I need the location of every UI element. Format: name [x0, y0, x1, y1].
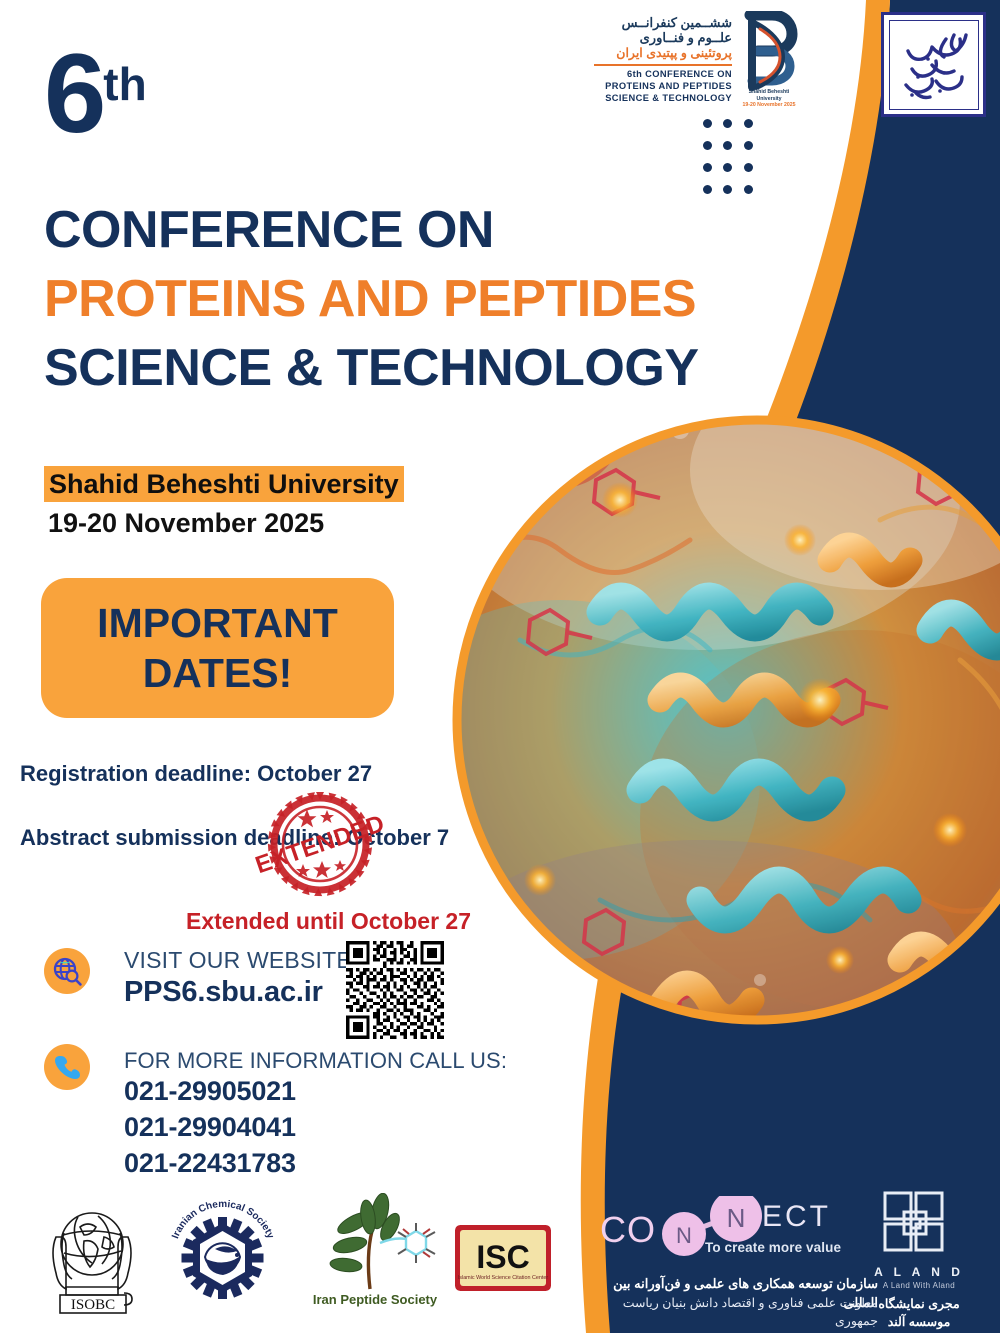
- qr-code[interactable]: [346, 941, 444, 1039]
- university-logo-calligraphy: [894, 25, 974, 105]
- phone-number-1[interactable]: 021-29905021: [124, 1074, 507, 1110]
- important-dates-badge: IMPORTANT DATES!: [41, 578, 394, 718]
- page-title: CONFERENCE ON PROTEINS AND PEPTIDES SCIE…: [44, 196, 724, 403]
- website-text: VISIT OUR WEBSITE: PPS6.sbu.ac.ir: [124, 947, 359, 1009]
- aland-persian-line2: موسسه آلند: [855, 1314, 983, 1332]
- title-line-2: PROTEINS AND PEPTIDES: [44, 265, 724, 334]
- mark-caption-university: Shahid Beheshti University: [736, 89, 802, 102]
- important-dates-line-2: DATES!: [143, 648, 293, 698]
- decorative-dot-grid: [697, 112, 759, 200]
- aland-name: A L A N D: [860, 1265, 978, 1279]
- globe-search-icon: [44, 948, 90, 994]
- conference-logo-text: ششــمین کنفرانــس علــوم و فنــاوری پروت…: [592, 16, 732, 104]
- sponsor-logo-aland: [882, 1190, 954, 1260]
- sponsor-logo-iran-peptide-society: Iran Peptide Society: [310, 1193, 440, 1313]
- sponsor-ips-label: Iran Peptide Society: [310, 1292, 440, 1307]
- sponsor-logo-iranian-chemical-society: Iranian Chemical Society: [163, 1195, 281, 1313]
- extended-until-note: Extended until October 27: [186, 908, 471, 935]
- aland-persian: مجری نمایشگاه موسسه آلند: [855, 1296, 983, 1331]
- title-line-3: SCIENCE & TECHNOLOGY: [44, 334, 724, 403]
- conference-logo-english-line1: 6th CONFERENCE ON: [592, 69, 732, 81]
- mark-caption-dates: 19-20 November 2025: [736, 102, 802, 109]
- university-logo: [881, 12, 986, 117]
- phone-icon-wrap: [44, 1044, 90, 1090]
- connect-word-part1: CO: [600, 1209, 656, 1250]
- conference-logo-mark-caption: Shahid Beheshti University 19-20 Novembe…: [736, 89, 802, 109]
- extended-stamp-icon: EXTENDED: [252, 789, 388, 899]
- venue-name: Shahid Beheshti University: [44, 466, 404, 502]
- phone-number-3[interactable]: 021-22431783: [124, 1146, 507, 1182]
- sponsor-isobc-label: ISOBC: [71, 1297, 115, 1313]
- conference-logo-persian-line3: پروتئینی و پپتیدی ایران: [592, 46, 732, 61]
- aland-sublabel: A Land With Aland: [860, 1281, 978, 1290]
- aland-persian-line1: مجری نمایشگاه: [855, 1296, 983, 1314]
- phone-number-2[interactable]: 021-29904041: [124, 1110, 507, 1146]
- conference-logo-persian-line1: ششــمین کنفرانــس: [592, 16, 732, 31]
- important-dates-line-1: IMPORTANT: [97, 598, 338, 648]
- conference-logo-ps-mark: Shahid Beheshti University 19-20 Novembe…: [736, 11, 798, 111]
- conference-logo: ششــمین کنفرانــس علــوم و فنــاوری پروت…: [592, 8, 807, 113]
- connect-persian-line2: معاونت علمی فناوری و اقتصاد دانش بنیان ر…: [588, 1294, 878, 1330]
- conference-logo-english-line2: PROTEINS AND PEPTIDES: [592, 81, 732, 93]
- connect-node-1: N: [676, 1223, 692, 1248]
- edition-suffix: th: [103, 58, 146, 110]
- connect-tagline: To create more value: [705, 1240, 841, 1255]
- website-icon-wrap: [44, 948, 90, 994]
- sponsor-logo-isc: ISC Islamic World Science Citation Cente…: [455, 1225, 551, 1291]
- conference-logo-persian-line2: علــوم و فنــاوری: [592, 31, 732, 46]
- sponsor-isc-sublabel: Islamic World Science Citation Center: [458, 1275, 549, 1281]
- phone-icon: [44, 1044, 90, 1090]
- conference-logo-english-line3: SCIENCE & TECHNOLOGY: [592, 93, 732, 105]
- edition-number: 6: [44, 31, 103, 156]
- connect-node-2: N: [727, 1203, 746, 1233]
- university-logo-frame: [889, 20, 979, 110]
- title-line-1: CONFERENCE ON: [44, 196, 724, 265]
- phone-label: FOR MORE INFORMATION CALL US:: [124, 1048, 507, 1074]
- venue-block: Shahid Beheshti University 19-20 Novembe…: [44, 466, 404, 539]
- connect-word-part2: ECT: [762, 1200, 831, 1233]
- venue-date: 19-20 November 2025: [44, 508, 404, 539]
- sponsor-isc-label: ISC: [476, 1239, 529, 1275]
- edition-ordinal: 6th: [44, 38, 147, 150]
- sponsor-logo-isobc: ISOBC: [38, 1197, 146, 1317]
- phone-text: FOR MORE INFORMATION CALL US: 021-299050…: [124, 1048, 507, 1182]
- website-label: VISIT OUR WEBSITE:: [124, 947, 359, 974]
- conference-poster: ششــمین کنفرانــس علــوم و فنــاوری پروت…: [0, 0, 1000, 1333]
- website-url[interactable]: PPS6.sbu.ac.ir: [124, 976, 359, 1009]
- conference-logo-divider: [594, 64, 732, 66]
- registration-deadline: Registration deadline: October 27: [20, 761, 372, 787]
